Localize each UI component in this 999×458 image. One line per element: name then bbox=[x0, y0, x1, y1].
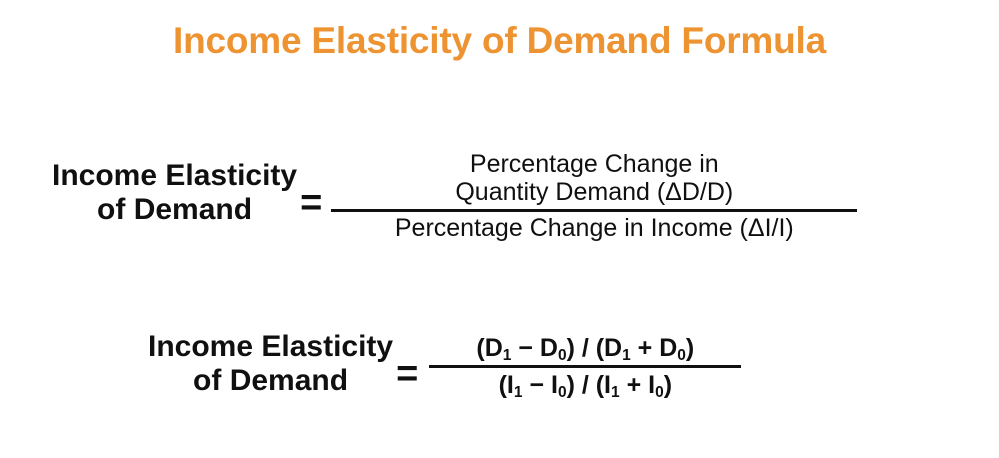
formula-2-left-label-line2: of Demand bbox=[148, 364, 393, 398]
page-title: Income Elasticity of Demand Formula bbox=[0, 20, 999, 63]
formula-1-left-label: Income Elasticity of Demand bbox=[52, 159, 297, 232]
formula-2-numerator-sub-3: 1 bbox=[622, 347, 631, 364]
formula-1-equals-sign: = bbox=[300, 184, 322, 222]
formula-2-numerator-plus: + D bbox=[631, 334, 678, 362]
formula-2-numerator-minus: − D bbox=[511, 334, 558, 362]
formula-2-denominator-slash: ) / (I bbox=[567, 371, 611, 399]
formula-1-denominator: Percentage Change in Income (ΔI/I) bbox=[389, 212, 800, 242]
formula-2-denominator-sub-3: 1 bbox=[611, 384, 620, 401]
formula-2-numerator-close: ) bbox=[686, 334, 694, 362]
formula-1-fraction: Percentage Change in Quantity Demand (ΔD… bbox=[331, 150, 857, 242]
formula-midpoint-method: Income Elasticity of Demand = (D1 − D0) … bbox=[148, 330, 741, 403]
formula-2-equals-sign: = bbox=[396, 355, 418, 393]
formula-2-denominator-sub-4: 0 bbox=[655, 384, 664, 401]
formula-2-numerator: (D1 − D0) / (D1 + D0) bbox=[466, 334, 704, 365]
formula-2-numerator-sub-2: 0 bbox=[558, 347, 567, 364]
formula-2-denominator-open: (I bbox=[499, 371, 514, 399]
formula-1-numerator-line1: Percentage Change in bbox=[455, 150, 733, 178]
formula-percentage-change: Income Elasticity of Demand = Percentage… bbox=[52, 150, 857, 242]
formula-2-denominator-plus: + I bbox=[620, 371, 655, 399]
formula-2-numerator-open: (D bbox=[476, 334, 502, 362]
formula-1-left-label-line1: Income Elasticity bbox=[52, 159, 297, 193]
formula-2-denominator: (I1 − I0) / (I1 + I0) bbox=[489, 368, 682, 399]
formula-2-fraction: (D1 − D0) / (D1 + D0) (I1 − I0) / (I1 + … bbox=[429, 334, 741, 399]
formula-2-denominator-sub-1: 1 bbox=[514, 384, 523, 401]
formula-2-left-label: Income Elasticity of Demand bbox=[148, 330, 393, 403]
formula-2-denominator-close: ) bbox=[664, 371, 672, 399]
formula-2-denominator-minus: − I bbox=[523, 371, 558, 399]
formula-1-numerator: Percentage Change in Quantity Demand (ΔD… bbox=[449, 150, 739, 209]
formula-2-numerator-sub-4: 0 bbox=[677, 347, 686, 364]
formula-2-numerator-slash: ) / (D bbox=[567, 334, 623, 362]
formula-2-numerator-sub-1: 1 bbox=[503, 347, 512, 364]
formula-page: Income Elasticity of Demand Formula Inco… bbox=[0, 0, 999, 458]
formula-1-numerator-line2: Quantity Demand (ΔD/D) bbox=[455, 178, 733, 206]
formula-2-left-label-line1: Income Elasticity bbox=[148, 330, 393, 364]
formula-1-left-label-line2: of Demand bbox=[52, 193, 297, 227]
formula-2-denominator-sub-2: 0 bbox=[558, 384, 567, 401]
